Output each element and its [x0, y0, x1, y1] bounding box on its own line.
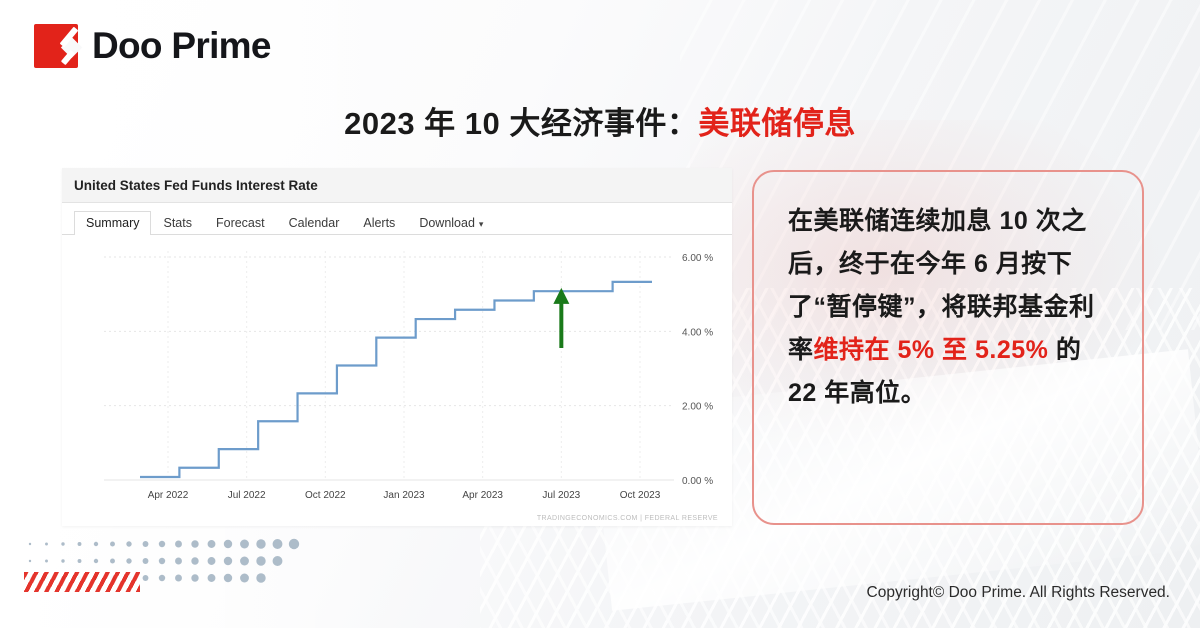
tab-calendar-label: Calendar	[289, 216, 340, 230]
svg-text:Apr 2022: Apr 2022	[148, 490, 189, 501]
svg-text:2.00 %: 2.00 %	[682, 402, 713, 413]
chart-title: United States Fed Funds Interest Rate	[74, 178, 318, 193]
tab-alerts-label: Alerts	[363, 216, 395, 230]
chart-tab-bar: Summary Stats Forecast Calendar Alerts D…	[62, 203, 732, 235]
callout-box: 在美联储连续加息 10 次之后，终于在今年 6 月按下了“暂停键”，将联邦基金利…	[752, 170, 1144, 525]
svg-text:Oct 2022: Oct 2022	[305, 490, 346, 501]
svg-text:0.00 %: 0.00 %	[682, 476, 713, 487]
tab-forecast[interactable]: Forecast	[204, 211, 277, 236]
brand-logo: Doo Prime	[34, 24, 271, 68]
tab-forecast-label: Forecast	[216, 216, 265, 230]
copyright-text: Copyright© Doo Prime. All Rights Reserve…	[867, 584, 1170, 602]
tab-calendar[interactable]: Calendar	[277, 211, 352, 236]
chart-attribution: TRADINGECONOMICS.COM | FEDERAL RESERVE	[537, 515, 718, 522]
svg-text:Jul 2022: Jul 2022	[228, 490, 266, 501]
brand-name: Doo Prime	[92, 25, 271, 67]
svg-text:6.00 %: 6.00 %	[682, 253, 713, 264]
svg-text:Oct 2023: Oct 2023	[620, 490, 661, 501]
doo-prime-mark-icon	[34, 24, 78, 68]
svg-text:4.00 %: 4.00 %	[682, 327, 713, 338]
tab-download-label: Download	[419, 216, 475, 230]
chart-panel-header: United States Fed Funds Interest Rate	[62, 168, 732, 203]
page-title-black: 2023 年 10 大经济事件：	[344, 106, 698, 141]
chart-plot-area: 0.00 %2.00 %4.00 %6.00 %Apr 2022Jul 2022…	[62, 235, 732, 526]
callout-text: 在美联储连续加息 10 次之后，终于在今年 6 月按下了“暂停键”，将联邦基金利…	[788, 200, 1112, 415]
decorative-red-stripes	[24, 572, 140, 592]
tab-summary-label: Summary	[86, 216, 139, 230]
tab-download[interactable]: Download▾	[407, 211, 495, 236]
callout-segment-2-highlight: 维持在 5% 至 5.25%	[814, 336, 1049, 364]
tab-stats[interactable]: Stats	[151, 211, 204, 236]
chevron-down-icon: ▾	[479, 219, 484, 229]
chart-panel: United States Fed Funds Interest Rate Su…	[62, 168, 732, 526]
svg-text:Jul 2023: Jul 2023	[542, 490, 580, 501]
svg-text:Apr 2023: Apr 2023	[462, 490, 503, 501]
fed-funds-rate-chart: 0.00 %2.00 %4.00 %6.00 %Apr 2022Jul 2022…	[62, 235, 732, 526]
svg-text:Jan 2023: Jan 2023	[383, 490, 425, 501]
tab-alerts[interactable]: Alerts	[351, 211, 407, 236]
page-title-red: 美联储停息	[698, 106, 856, 141]
page-title: 2023 年 10 大经济事件：美联储停息	[0, 98, 1200, 143]
tab-stats-label: Stats	[163, 216, 192, 230]
tab-summary[interactable]: Summary	[74, 211, 151, 236]
